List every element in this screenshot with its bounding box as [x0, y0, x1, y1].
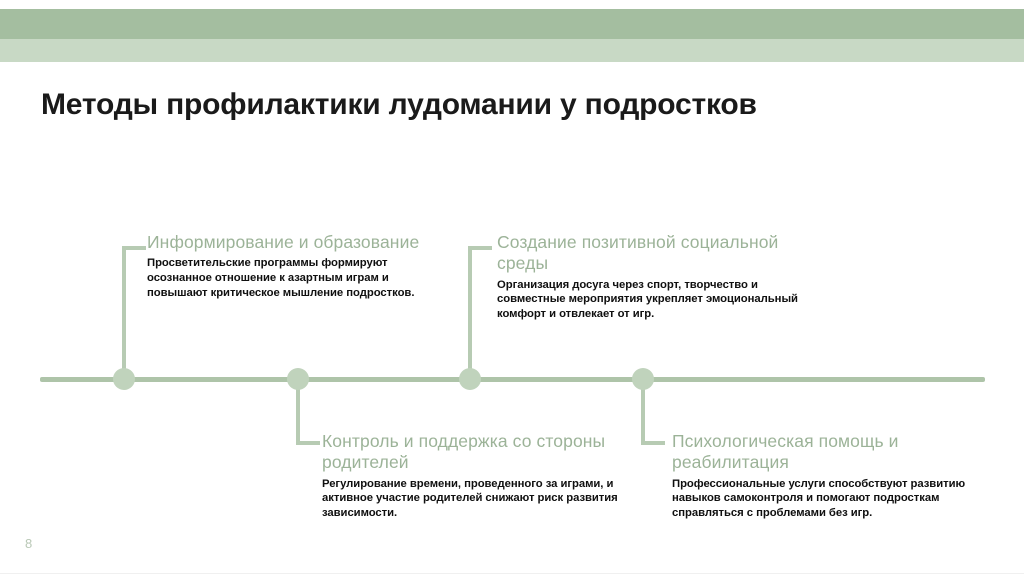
page-number: 8 [25, 536, 32, 551]
header-accent-bar [0, 9, 1024, 39]
milestone-heading-4: Психологическая помощь и реабилитация [672, 431, 982, 474]
page-title: Методы профилактики лудомании у подростк… [41, 88, 971, 123]
timeline-axis [40, 377, 985, 382]
milestone-block-2: Контроль и поддержка со стороны родителе… [322, 431, 622, 521]
milestone-block-3: Создание позитивной социальной среды Орг… [497, 232, 817, 322]
timeline-dot-2[interactable] [287, 368, 309, 390]
timeline-dot-1[interactable] [113, 368, 135, 390]
milestone-body-2: Регулирование времени, проведенного за и… [322, 477, 622, 521]
timeline-dot-3[interactable] [459, 368, 481, 390]
milestone-heading-3: Создание позитивной социальной среды [497, 232, 817, 275]
slide-canvas: Методы профилактики лудомании у подростк… [0, 0, 1024, 574]
milestone-heading-2: Контроль и поддержка со стороны родителе… [322, 431, 622, 474]
milestone-block-1: Информирование и образование Просветител… [147, 232, 447, 300]
header-accent-bar-secondary [0, 39, 1024, 62]
milestone-body-3: Организация досуга через спорт, творчест… [497, 278, 817, 322]
milestone-heading-1: Информирование и образование [147, 232, 447, 253]
milestone-block-4: Психологическая помощь и реабилитация Пр… [672, 431, 982, 521]
milestone-body-1: Просветительские программы формируют осо… [147, 256, 447, 300]
timeline-dot-4[interactable] [632, 368, 654, 390]
milestone-body-4: Профессиональные услуги способствуют раз… [672, 477, 982, 521]
